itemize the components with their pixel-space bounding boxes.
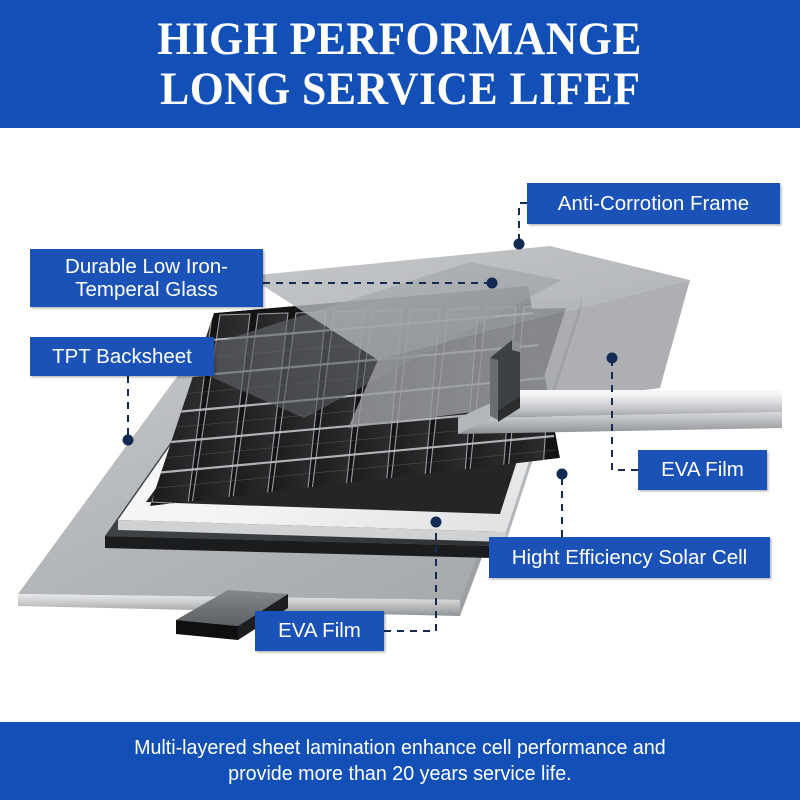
label-eva-film-bottom-text: EVA Film: [278, 619, 361, 643]
label-tpt-backsheet-text: TPT Backsheet: [52, 345, 192, 369]
label-high-efficiency-solar-cell[interactable]: Hight Efficiency Solar Cell: [489, 537, 770, 578]
header-title-line2: LONG SERVICE LIFEF: [160, 65, 640, 113]
label-glass-text-line1: Durable Low Iron-: [65, 255, 228, 278]
dot-tpt: [123, 435, 134, 446]
label-anti-corrosion-frame[interactable]: Anti-Corrotion Frame: [527, 183, 780, 224]
dot-solar-cell: [557, 469, 568, 480]
label-tpt-backsheet[interactable]: TPT Backsheet: [30, 337, 214, 376]
poster-root: HIGH PERFORMANGE LONG SERVICE LIFEF: [0, 0, 800, 800]
label-durable-low-iron-glass[interactable]: Durable Low Iron- Temperal Glass: [30, 249, 263, 307]
label-eva-film-right-text: EVA Film: [661, 458, 744, 482]
dot-frame: [514, 239, 525, 250]
footer-text-line2: provide more than 20 years service life.: [228, 761, 571, 787]
footer-text-line1: Multi-layered sheet lamination enhance c…: [134, 735, 666, 761]
label-eva-film-right[interactable]: EVA Film: [638, 450, 767, 490]
dot-eva-right: [607, 353, 618, 364]
dot-glass: [487, 278, 498, 289]
dot-eva-bottom: [431, 517, 442, 528]
label-solar-cell-text: Hight Efficiency Solar Cell: [512, 546, 747, 570]
label-glass-text-line2: Temperal Glass: [75, 278, 217, 301]
leader-frame: [519, 203, 527, 242]
footer-banner: Multi-layered sheet lamination enhance c…: [0, 722, 800, 800]
header-banner: HIGH PERFORMANGE LONG SERVICE LIFEF: [0, 0, 800, 128]
header-title-line1: HIGH PERFORMANGE: [158, 15, 643, 63]
label-anti-corrosion-frame-text: Anti-Corrotion Frame: [558, 192, 749, 216]
label-eva-film-bottom[interactable]: EVA Film: [255, 611, 384, 651]
